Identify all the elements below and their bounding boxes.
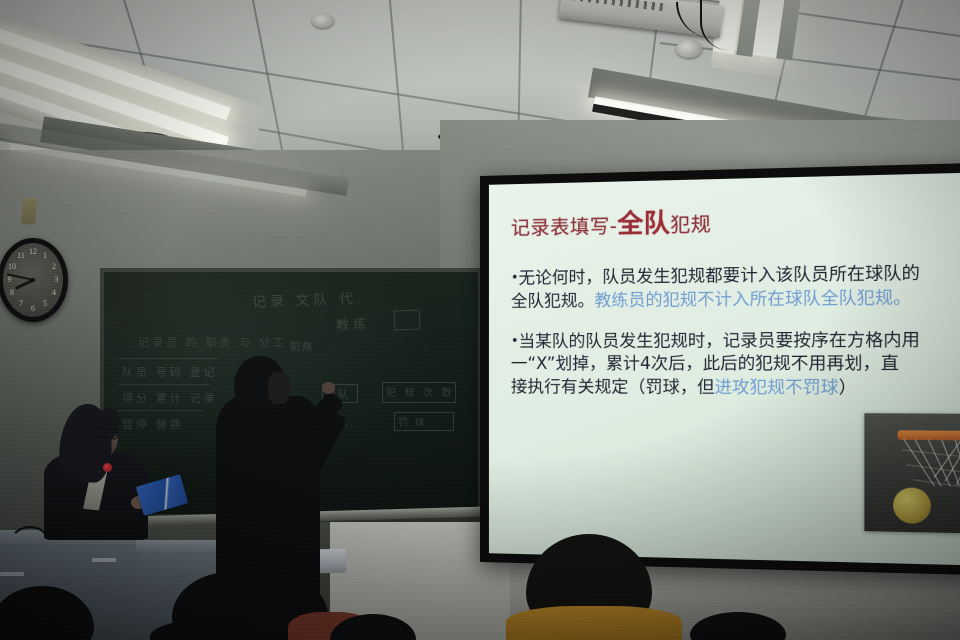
bullet-2-line-2: 一“X”划掉，累计4次后，此后的犯规不用再划，直 [511, 353, 899, 373]
bullet-2-line-3-tail: ） [839, 377, 857, 397]
wall-sign [21, 198, 37, 225]
slide-bullet-1: •无论何时，队员发生犯规都要计入该队员所在球队的 全队犯规。教练员的犯规不计入所… [511, 261, 960, 313]
smoke-detector-icon-2 [676, 40, 702, 58]
bullet-1-line-1: 无论何时，队员发生犯规都要计入该队员所在球队的 [519, 263, 920, 288]
basketball-icon [893, 487, 931, 524]
bullet-2-line-3: 接执行有关规定（罚球，但 [511, 377, 715, 397]
ceiling-light-fixture-right [710, 0, 841, 84]
classroom-scene: 12 1 2 3 4 5 6 7 8 9 10 11 记录 文队 代 教练 记录… [0, 0, 960, 640]
smoke-detector-icon [312, 14, 334, 28]
slide-title-emphasis: 全队 [617, 208, 670, 239]
slide-content: 记录表填写-全队犯规 •无论何时，队员发生犯规都要计入该队员所在球队的 全队犯规… [489, 172, 960, 566]
slide-bullets: •无论何时，队员发生犯规都要计入该队员所在球队的 全队犯规。教练员的犯规不计入所… [511, 261, 960, 401]
student-jacket-yellow [506, 606, 682, 640]
projector-cable-2 [700, 0, 728, 50]
slide-title-suffix: 犯规 [670, 213, 711, 236]
bullet-marker-2: • [511, 333, 519, 348]
lapel-badge [103, 463, 112, 472]
projection-screen: 记录表填写-全队犯规 •无论何时，队员发生犯规都要计入该队员所在球队的 全队犯规… [489, 172, 960, 566]
slide-bullet-2: •当某队的队员发生犯规时，记录员要按序在方格内用 一“X”划掉，累计4次后，此后… [511, 328, 960, 401]
bullet-1-line-2: 全队犯规。 [511, 291, 595, 311]
wall-clock: 12 1 2 3 4 5 6 7 8 9 10 11 [0, 238, 68, 322]
bullet-1-line-2-blue: 教练员的犯规不计入所在球队全队犯规。 [594, 287, 911, 310]
slide-title-prefix: 记录表填写- [511, 215, 617, 239]
bullet-2-line-3-blue: 进攻犯规不罚球 [715, 377, 839, 397]
bullet-marker: • [511, 270, 519, 285]
hoop-net-icon [902, 439, 960, 491]
projection-screen-frame: 记录表填写-全队犯规 •无论何时，队员发生犯规都要计入该队员所在球队的 全队犯规… [480, 163, 960, 576]
basketball-hoop-photo [864, 413, 960, 534]
bullet-2-line-1: 当某队的队员发生犯规时，记录员要按序在方格内用 [519, 329, 920, 350]
slide-title: 记录表填写-全队犯规 [511, 196, 960, 243]
